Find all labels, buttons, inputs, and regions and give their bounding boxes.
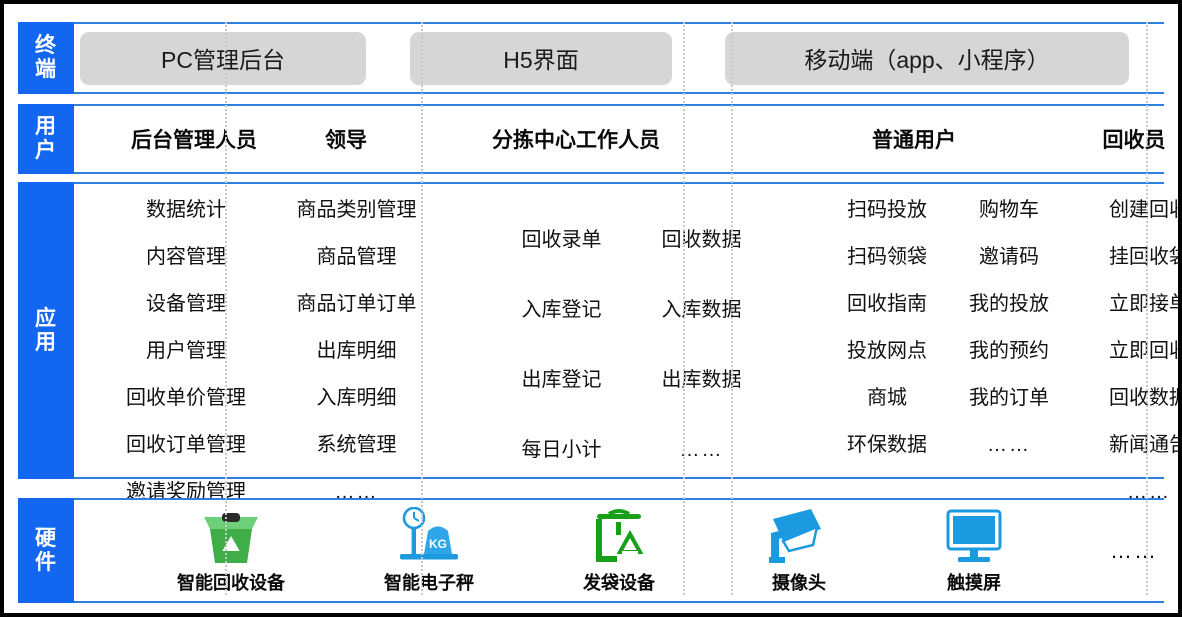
terminal-h5[interactable]: H5界面	[410, 32, 672, 85]
touchscreen-icon	[943, 507, 1005, 565]
hardware-label: 智能回收设备	[177, 569, 285, 595]
app-item[interactable]: 购物车	[979, 200, 1039, 220]
app-item[interactable]: 每日小计	[522, 440, 602, 460]
band-label-user-text: 用户	[33, 115, 58, 162]
app-item[interactable]: 出库登记	[522, 370, 602, 390]
app-item[interactable]: 系统管理	[317, 435, 397, 455]
recycle-bin-icon	[200, 507, 262, 565]
band-label-hardware: 硬件	[18, 498, 74, 603]
band-terminal: 终端 PC管理后台 H5界面 移动端（app、小程序）	[18, 22, 1164, 94]
app-item[interactable]: 邀请码	[979, 247, 1039, 267]
user-role-normal: 普通用户	[774, 106, 1054, 172]
app-item[interactable]: 我的投放	[969, 294, 1049, 314]
hardware-label: 摄像头	[772, 569, 826, 595]
app-item[interactable]: 立即回收	[1109, 341, 1182, 361]
app-item[interactable]: 入库登记	[522, 300, 602, 320]
weight-scale-icon: KG	[396, 507, 462, 565]
user-role-collector: 回收员	[1054, 106, 1182, 172]
hardware-label: 智能电子秤	[384, 569, 474, 595]
band-label-application: 应用	[18, 182, 74, 479]
hardware-item-bag-dispenser[interactable]: 发袋设备	[534, 500, 704, 601]
app-item[interactable]: 回收录单	[522, 230, 602, 250]
app-item[interactable]: 创建回收	[1109, 200, 1182, 220]
app-item[interactable]: 回收订单管理	[126, 435, 246, 455]
app-column-admin-1: 数据统计 内容管理 设备管理 用户管理 回收单价管理 回收订单管理 邀请奖励管理	[106, 200, 266, 529]
band-body-application: 数据统计 内容管理 设备管理 用户管理 回收单价管理 回收订单管理 邀请奖励管理…	[74, 182, 1164, 479]
band-application: 应用 数据统计 内容管理 设备管理 用户管理 回收单价管理 回收订单管理 邀请奖…	[18, 182, 1164, 479]
app-item[interactable]: 我的预约	[969, 341, 1049, 361]
app-column-user-2: 购物车 邀请码 我的投放 我的预约 我的订单 ……	[934, 200, 1084, 482]
app-item-ellipsis: ……	[987, 435, 1031, 455]
band-label-hardware-text: 硬件	[33, 527, 58, 574]
app-item[interactable]: 商品类别管理	[297, 200, 417, 220]
app-item[interactable]: 出库明细	[317, 341, 397, 361]
svg-text:KG: KG	[429, 537, 447, 551]
hardware-item-camera[interactable]: 摄像头	[714, 500, 884, 601]
app-item[interactable]: 商品管理	[317, 247, 397, 267]
app-item[interactable]: 商品订单订单	[297, 294, 417, 314]
band-body-terminal: PC管理后台 H5界面 移动端（app、小程序）	[74, 22, 1164, 94]
terminal-mobile[interactable]: 移动端（app、小程序）	[725, 32, 1129, 85]
band-label-terminal-text: 终端	[33, 34, 58, 81]
camera-icon	[767, 507, 831, 565]
app-item[interactable]: 立即接单	[1109, 294, 1182, 314]
app-item[interactable]: 回收数据	[662, 230, 742, 250]
band-label-terminal: 终端	[18, 22, 74, 94]
user-role-leader: 领导	[286, 106, 406, 172]
hardware-label: 触摸屏	[947, 569, 1001, 595]
app-item[interactable]: 我的订单	[969, 388, 1049, 408]
terminal-pill-row: PC管理后台 H5界面 移动端（app、小程序）	[74, 24, 1164, 92]
app-column-sorting-2: 回收数据 入库数据 出库数据 ……	[619, 230, 784, 510]
app-item[interactable]: 扫码领袋	[847, 247, 927, 267]
ellipsis-icon: ……	[1110, 538, 1158, 564]
app-column-collector: 创建回收 挂回收袋 立即接单 立即回收 回收数据 新闻通告 ……	[1074, 200, 1182, 529]
app-item[interactable]: 内容管理	[146, 247, 226, 267]
band-body-hardware: 智能回收设备 KG 智能电子秤	[74, 498, 1164, 603]
app-item[interactable]: 商城	[867, 388, 907, 408]
app-item[interactable]: 投放网点	[847, 341, 927, 361]
app-item[interactable]: 挂回收袋	[1109, 247, 1182, 267]
terminal-pc-admin[interactable]: PC管理后台	[80, 32, 366, 85]
app-item[interactable]: 新闻通告	[1109, 435, 1182, 455]
hardware-item-recycle-bin[interactable]: 智能回收设备	[146, 500, 316, 601]
app-item[interactable]: 数据统计	[146, 200, 226, 220]
bag-dispenser-icon	[589, 507, 649, 565]
band-user: 用户 后台管理人员 领导 分拣中心工作人员 普通用户 回收员	[18, 104, 1164, 174]
hardware-item-more: ……	[1049, 500, 1182, 601]
band-hardware: 硬件 智能回收设备	[18, 498, 1164, 603]
app-item[interactable]: 扫码投放	[847, 200, 927, 220]
hardware-item-weight-scale[interactable]: KG 智能电子秤	[344, 500, 514, 601]
app-item[interactable]: 回收指南	[847, 294, 927, 314]
app-item[interactable]: 入库数据	[662, 300, 742, 320]
app-item-ellipsis: ……	[680, 440, 724, 460]
architecture-diagram: 终端 PC管理后台 H5界面 移动端（app、小程序） 用户 后台管理人员 领导…	[0, 0, 1182, 617]
app-item[interactable]: 出库数据	[662, 370, 742, 390]
hardware-item-touchscreen[interactable]: 触摸屏	[889, 500, 1059, 601]
app-item[interactable]: 回收数据	[1109, 388, 1182, 408]
user-role-admin: 后台管理人员	[104, 106, 284, 172]
hardware-label: 发袋设备	[583, 569, 655, 595]
app-item[interactable]: 回收单价管理	[126, 388, 246, 408]
app-item[interactable]: 环保数据	[847, 435, 927, 455]
app-item[interactable]: 设备管理	[146, 294, 226, 314]
app-column-admin-2: 商品类别管理 商品管理 商品订单订单 出库明细 入库明细 系统管理 ……	[269, 200, 444, 529]
app-item[interactable]: 用户管理	[146, 341, 226, 361]
app-item[interactable]: 入库明细	[317, 388, 397, 408]
band-label-user: 用户	[18, 104, 74, 174]
band-body-user: 后台管理人员 领导 分拣中心工作人员 普通用户 回收员	[74, 104, 1164, 174]
band-label-application-text: 应用	[33, 307, 58, 354]
user-role-sorting: 分拣中心工作人员	[426, 106, 726, 172]
